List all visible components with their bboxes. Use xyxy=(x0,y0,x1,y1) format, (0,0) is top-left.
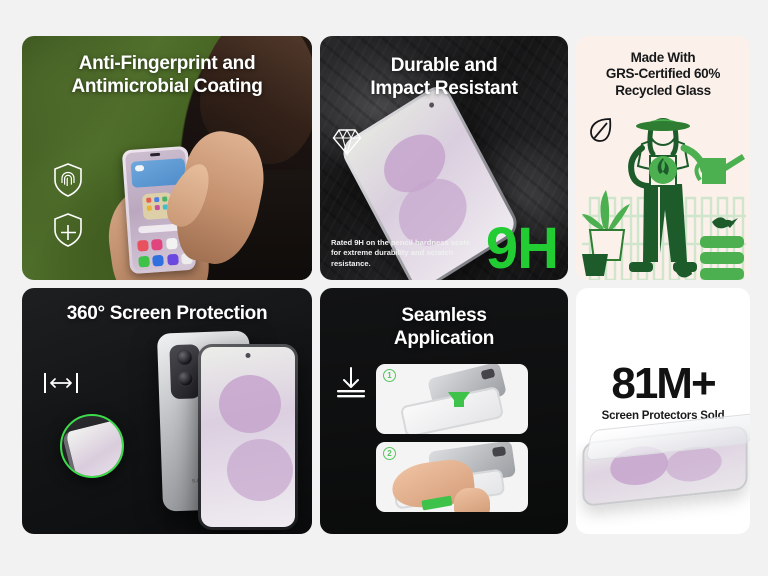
diamond-icon xyxy=(332,128,362,156)
title-line-2: GRS-Certified 60% xyxy=(576,66,750,82)
shield-fingerprint-icon xyxy=(52,162,84,198)
app-row-2 xyxy=(138,253,193,268)
gardener-illustration xyxy=(576,112,750,280)
apply-layers-icon xyxy=(334,366,368,400)
panel-durable-impact[interactable]: 9H Rated 9H on the pencil hardness scale… xyxy=(320,36,568,280)
phone-camera xyxy=(246,353,251,358)
panel-title-360: 360° Screen Protection xyxy=(22,302,312,325)
title-line-1: Anti-Fingerprint and xyxy=(22,52,312,75)
title-line-1: 360° Screen Protection xyxy=(22,302,312,325)
camera-module xyxy=(169,344,201,399)
panel-title-recycled-glass: Made With GRS-Certified 60% Recycled Gla… xyxy=(576,50,750,99)
panel-recycled-glass[interactable]: Made With GRS-Certified 60% Recycled Gla… xyxy=(576,36,750,280)
step1-direction-arrow xyxy=(448,392,470,407)
title-line-1: Seamless xyxy=(320,304,568,327)
phone-front xyxy=(198,344,298,530)
step-1-badge: 1 xyxy=(383,369,396,382)
step-2-badge: 2 xyxy=(383,447,396,460)
step-2-card: 2 xyxy=(376,442,528,512)
panel-title-seamless: Seamless Application xyxy=(320,304,568,350)
panel-360-protection[interactable]: 360° Screen Protection SAMSUNG xyxy=(22,288,312,534)
step-1-card: 1 xyxy=(376,364,528,434)
sold-count: 81M+ xyxy=(576,362,750,406)
feature-icon-stack xyxy=(52,162,84,262)
magnified-phone-edge xyxy=(62,416,124,478)
hardness-badge: 9H xyxy=(486,220,558,278)
panel-title-anti-fingerprint: Anti-Fingerprint and Antimicrobial Coati… xyxy=(22,52,312,98)
title-line-1: Durable and xyxy=(320,54,568,77)
step2-pinching-fingers xyxy=(454,488,490,512)
title-line-2: Application xyxy=(320,327,568,350)
span-width-icon xyxy=(42,370,80,396)
title-line-2: Antimicrobial Coating xyxy=(22,75,312,98)
title-line-1: Made With xyxy=(576,50,750,66)
phone-notch xyxy=(150,153,160,156)
panel-title-durable: Durable and Impact Resistant xyxy=(320,54,568,100)
panel-seamless-application[interactable]: Seamless Application 1 2 xyxy=(320,288,568,534)
title-line-3: Recycled Glass xyxy=(576,83,750,99)
edge-magnifier-callout xyxy=(60,414,124,478)
shield-plus-icon xyxy=(52,212,84,248)
title-line-2: Impact Resistant xyxy=(320,77,568,100)
panel-units-sold[interactable]: 81M+ Screen Protectors Sold xyxy=(576,288,750,534)
phone-camera xyxy=(428,101,435,108)
panel-anti-fingerprint[interactable]: Anti-Fingerprint and Antimicrobial Coati… xyxy=(22,36,312,280)
feature-grid: Anti-Fingerprint and Antimicrobial Coati… xyxy=(22,36,746,534)
durability-fine-print: Rated 9H on the pencil hardness scale fo… xyxy=(331,238,471,270)
